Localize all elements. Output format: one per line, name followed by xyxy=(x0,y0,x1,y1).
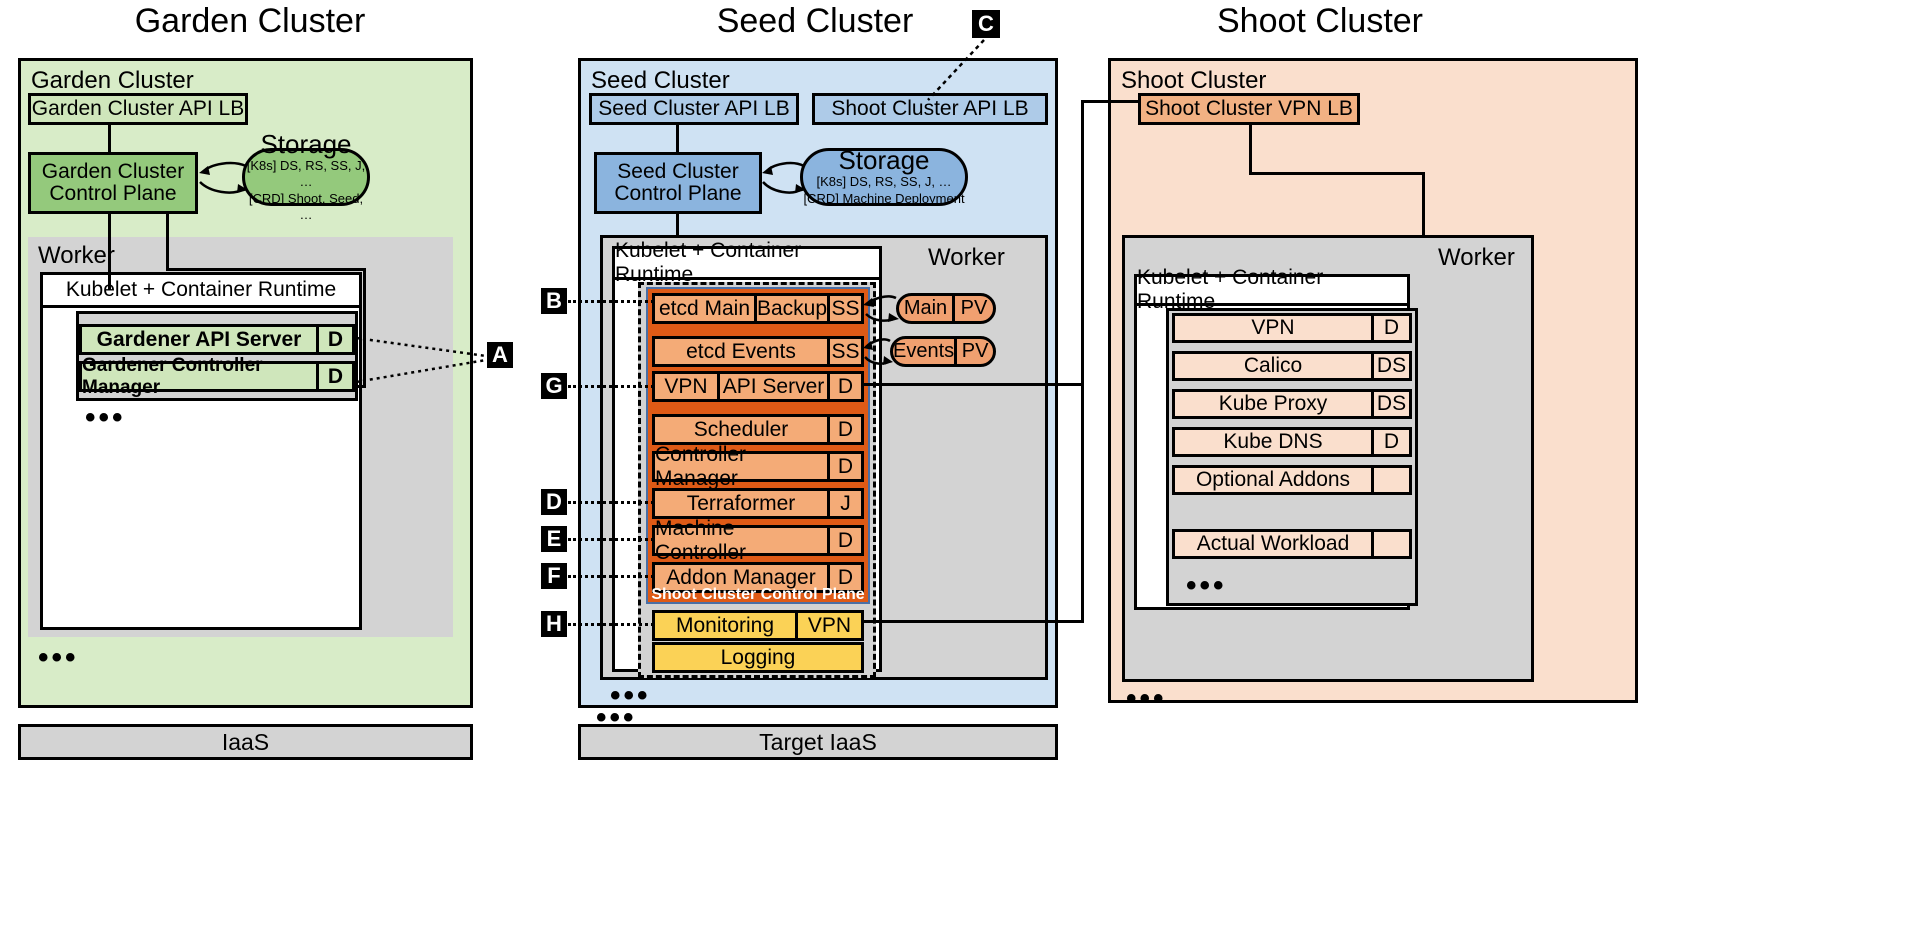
tag-e: E xyxy=(541,526,567,552)
garden-pod-row-1[interactable]: Gardener Controller Manager D xyxy=(79,361,355,392)
seed-pod-row-5[interactable]: Terraformer J xyxy=(652,488,864,519)
shoot-vpn-lb-box[interactable]: Shoot Cluster VPN LB xyxy=(1138,93,1360,125)
shoot-pod-row-0[interactable]: VPN D xyxy=(1172,313,1412,343)
seed-pod-badge-6: D xyxy=(827,528,861,553)
seed-observability-row-1[interactable]: Logging xyxy=(652,642,864,673)
seed-pod-name-4: Controller Manager xyxy=(655,454,827,479)
seed-pod-row-1[interactable]: etcd Events SS xyxy=(652,336,864,367)
seed-control-plane-line1: Seed Cluster xyxy=(617,161,738,183)
seed-pod-badge-3: D xyxy=(827,417,861,442)
seed-pod-name-2: API Server xyxy=(717,374,827,399)
garden-cp-right-across xyxy=(166,268,366,271)
seed-lb-to-cp-line xyxy=(676,125,679,152)
shoot-vpnlb-feed-across xyxy=(1081,100,1141,103)
tag-h: H xyxy=(541,611,567,637)
shoot-worker-more-dots: ••• xyxy=(1126,693,1167,705)
seed-pod-name-5: Terraformer xyxy=(655,491,827,516)
garden-worker-more-dots: ••• xyxy=(38,652,79,664)
garden-pod-row-0[interactable]: Gardener API Server D xyxy=(79,324,355,355)
garden-iaas-bar: IaaS xyxy=(18,724,473,760)
tag-h-leader xyxy=(568,623,654,626)
tag-f-leader xyxy=(568,575,654,578)
seed-apiserver-to-shoot-across xyxy=(862,383,1081,386)
seed-cluster-more-dots: ••• xyxy=(596,712,637,724)
seed-pod-badge-1: SS xyxy=(827,339,861,364)
seed-pod-badge-2: D xyxy=(827,374,861,399)
tag-g-leader xyxy=(568,385,654,388)
tag-d: D xyxy=(541,489,567,515)
shoot-pod-row-2[interactable]: Kube Proxy DS xyxy=(1172,389,1412,419)
garden-kubelet-bar: Kubelet + Container Runtime xyxy=(40,272,362,308)
seed-pod-row-2[interactable]: VPN API Server D xyxy=(652,371,864,402)
garden-cluster-panel-label: Garden Cluster xyxy=(31,67,194,95)
shoot-pod-name-0: VPN xyxy=(1175,316,1371,340)
shoot-vpnlb-to-vpn-across xyxy=(1249,172,1425,175)
seed-pod-extra-0: Backup xyxy=(754,296,827,321)
tag-a-leader-lines xyxy=(352,330,492,390)
garden-cp-right-down xyxy=(166,214,169,270)
seed-control-plane-line2: Control Plane xyxy=(614,183,741,205)
garden-storage-capsule: Storage [K8s] DS, RS, SS, J, … [CRD] Sho… xyxy=(242,148,370,206)
garden-control-plane-line2: Control Plane xyxy=(49,183,176,205)
seed-storage-arrows xyxy=(760,158,808,202)
shoot-control-plane-caption: Shoot Cluster Control Plane xyxy=(646,585,870,605)
seed-pod-name-0: etcd Main xyxy=(655,296,754,321)
seed-storage-capsule: Storage [K8s] DS, RS, SS, J, … [CRD] Mac… xyxy=(800,148,968,206)
garden-cp-to-kubelet-line xyxy=(108,214,111,290)
tag-c: C xyxy=(972,10,1000,38)
seed-pod-badge-5: J xyxy=(827,491,861,516)
garden-pod-badge-1: D xyxy=(316,364,352,389)
tag-e-leader xyxy=(568,538,654,541)
garden-cluster-title: Garden Cluster xyxy=(60,2,440,41)
seed-kubelet-bar: Kubelet + Container Runtime xyxy=(612,246,882,280)
seed-volume-badge-0: PV xyxy=(952,296,993,321)
shoot-pod-row-4[interactable]: Optional Addons xyxy=(1172,465,1412,495)
garden-lb-to-cp-line xyxy=(108,125,111,152)
shoot-pod-badge-3: D xyxy=(1371,430,1409,454)
garden-storage-line2: [CRD] Shoot, Seed, … xyxy=(245,191,367,224)
seed-observability-name-0: Monitoring xyxy=(655,613,795,638)
seed-pod-badge-4: D xyxy=(827,454,861,479)
shoot-workload-badge xyxy=(1371,532,1409,556)
seed-volume-name-0: Main xyxy=(899,296,952,321)
garden-api-lb-box[interactable]: Garden Cluster API LB xyxy=(28,93,248,125)
garden-worker-label: Worker xyxy=(38,242,115,270)
seed-pod-row-6[interactable]: Machine Controller D xyxy=(652,525,864,556)
seed-volume-name-1: Events xyxy=(893,339,954,364)
shoot-pods-more-dots: ••• xyxy=(1186,580,1227,592)
tag-f: F xyxy=(541,563,567,589)
garden-pod-badge-0: D xyxy=(316,327,352,352)
garden-pod-name-0: Gardener API Server xyxy=(82,327,316,352)
seed-observability-extra-0: VPN xyxy=(795,613,861,638)
shoot-vpnlb-to-vpn-down xyxy=(1249,125,1252,175)
seed-pod-name-3: Scheduler xyxy=(655,417,827,442)
garden-storage-title: Storage xyxy=(260,131,351,158)
seed-iaas-bar: Target IaaS xyxy=(578,724,1058,760)
seed-storage-title: Storage xyxy=(838,147,929,174)
seed-pod-name-1: etcd Events xyxy=(655,339,827,364)
shoot-workload-row[interactable]: Actual Workload xyxy=(1172,529,1412,559)
tag-b: B xyxy=(541,288,567,314)
garden-pod-name-1: Gardener Controller Manager xyxy=(82,364,316,389)
tag-c-leader-line xyxy=(924,38,988,104)
seed-cluster-panel-label: Seed Cluster xyxy=(591,67,730,95)
shoot-vpnlb-feed-down xyxy=(1081,100,1084,622)
garden-storage-arrows xyxy=(196,158,250,202)
garden-control-plane-box: Garden Cluster Control Plane xyxy=(28,152,198,214)
garden-storage-line1: [K8s] DS, RS, SS, J, … xyxy=(245,158,367,191)
shoot-pod-badge-0: D xyxy=(1371,316,1409,340)
shoot-pod-row-3[interactable]: Kube DNS D xyxy=(1172,427,1412,457)
shoot-pod-row-1[interactable]: Calico DS xyxy=(1172,351,1412,381)
seed-pod-row-4[interactable]: Controller Manager D xyxy=(652,451,864,482)
seed-pod-row-3[interactable]: Scheduler D xyxy=(652,414,864,445)
shoot-workload-name: Actual Workload xyxy=(1175,532,1371,556)
tag-d-leader xyxy=(568,501,654,504)
seed-cluster-title: Seed Cluster xyxy=(640,2,990,41)
shoot-worker-label: Worker xyxy=(1438,244,1515,272)
seed-worker-label: Worker xyxy=(928,244,1005,272)
garden-pods-more-dots: ••• xyxy=(85,412,126,424)
seed-pod-name-6: Machine Controller xyxy=(655,528,827,553)
shoot-pod-badge-4 xyxy=(1371,468,1409,492)
seed-storage-line2: [CRD] Machine Deployment xyxy=(803,191,964,207)
seed-control-plane-box: Seed Cluster Control Plane xyxy=(594,152,762,214)
seed-api-lb-box[interactable]: Seed Cluster API LB xyxy=(589,93,799,125)
shoot-cluster-panel-label: Shoot Cluster xyxy=(1121,67,1266,95)
seed-volume-arrow-1 xyxy=(862,335,894,369)
seed-pod-badge-0: SS xyxy=(827,296,861,321)
shoot-vpnlb-feed-to-monitoring xyxy=(862,620,1084,623)
shoot-pod-badge-1: DS xyxy=(1371,354,1409,378)
shoot-kubelet-bar: Kubelet + Container Runtime xyxy=(1134,274,1410,306)
shoot-cluster-title: Shoot Cluster xyxy=(1150,2,1490,41)
seed-pod-extra-2: VPN xyxy=(655,374,717,399)
shoot-pod-badge-2: DS xyxy=(1371,392,1409,416)
seed-volume-arrow-0 xyxy=(862,292,900,326)
shoot-pod-name-1: Calico xyxy=(1175,354,1371,378)
seed-observability-row-0[interactable]: Monitoring VPN xyxy=(652,610,864,641)
shoot-pod-name-4: Optional Addons xyxy=(1175,468,1371,492)
seed-storage-line1: [K8s] DS, RS, SS, J, … xyxy=(816,174,951,190)
shoot-pod-name-2: Kube Proxy xyxy=(1175,392,1371,416)
seed-volume-pill-0: Main PV xyxy=(896,293,996,324)
seed-observability-name-1: Logging xyxy=(655,645,861,670)
seed-volume-badge-1: PV xyxy=(954,339,993,364)
shoot-pod-name-3: Kube DNS xyxy=(1175,430,1371,454)
tag-g: G xyxy=(541,373,567,399)
tag-b-leader xyxy=(568,300,654,303)
seed-volume-pill-1: Events PV xyxy=(890,336,996,367)
seed-pod-row-0[interactable]: etcd Main Backup SS xyxy=(652,293,864,324)
garden-control-plane-line1: Garden Cluster xyxy=(42,161,184,183)
